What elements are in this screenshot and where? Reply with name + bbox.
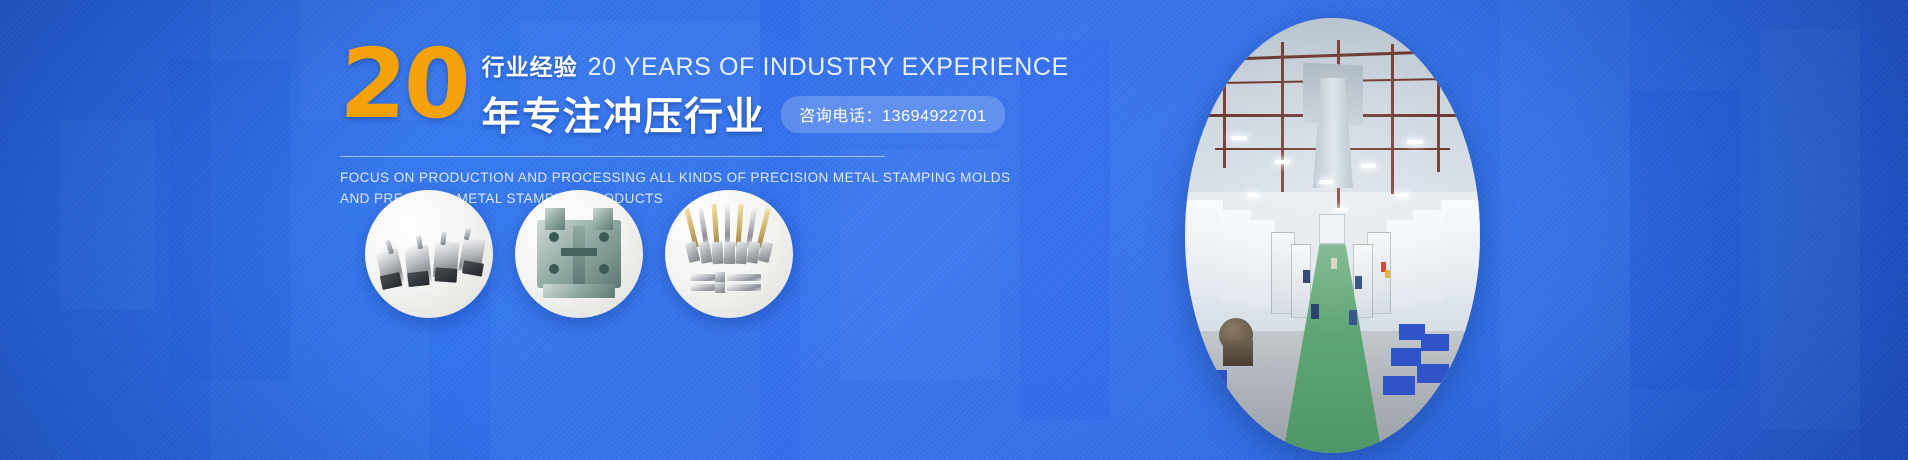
metal-terminal-pins-image	[665, 190, 793, 318]
headline-block: 20 行业经验 20 YEARS OF INDUSTRY EXPERIENCE …	[340, 40, 900, 210]
years-number: 20	[338, 40, 469, 128]
product-circle-group	[365, 190, 793, 318]
focus-industry-cn: 年专注冲压行业	[482, 86, 766, 142]
product-circle-metal-terminal-pins[interactable]	[665, 190, 793, 318]
headline-row: 20 行业经验 20 YEARS OF INDUSTRY EXPERIENCE …	[340, 40, 900, 142]
subtitle-line-1: FOCUS ON PRODUCTION AND PROCESSING ALL K…	[340, 168, 885, 189]
product-circle-usb-connector-shells[interactable]	[365, 190, 493, 318]
usb-connector-shells-image	[365, 190, 493, 318]
headline-line-top: 行业经验 20 YEARS OF INDUSTRY EXPERIENCE	[482, 48, 1069, 82]
stamping-die-mold-image	[515, 190, 643, 318]
divider-rule	[340, 156, 885, 157]
experience-label-en: 20 YEARS OF INDUSTRY EXPERIENCE	[588, 53, 1069, 82]
factory-photo-ellipse	[1185, 18, 1480, 453]
promotional-banner: 20 行业经验 20 YEARS OF INDUSTRY EXPERIENCE …	[0, 0, 1908, 460]
contact-phone-pill[interactable]: 咨询电话：13694922701	[781, 96, 1004, 133]
headline-text-group: 行业经验 20 YEARS OF INDUSTRY EXPERIENCE 年专注…	[482, 40, 1069, 142]
headline-line-bottom: 年专注冲压行业 咨询电话：13694922701	[482, 86, 1069, 142]
product-circle-stamping-die-mold[interactable]	[515, 190, 643, 318]
experience-label-cn: 行业经验	[482, 48, 578, 82]
